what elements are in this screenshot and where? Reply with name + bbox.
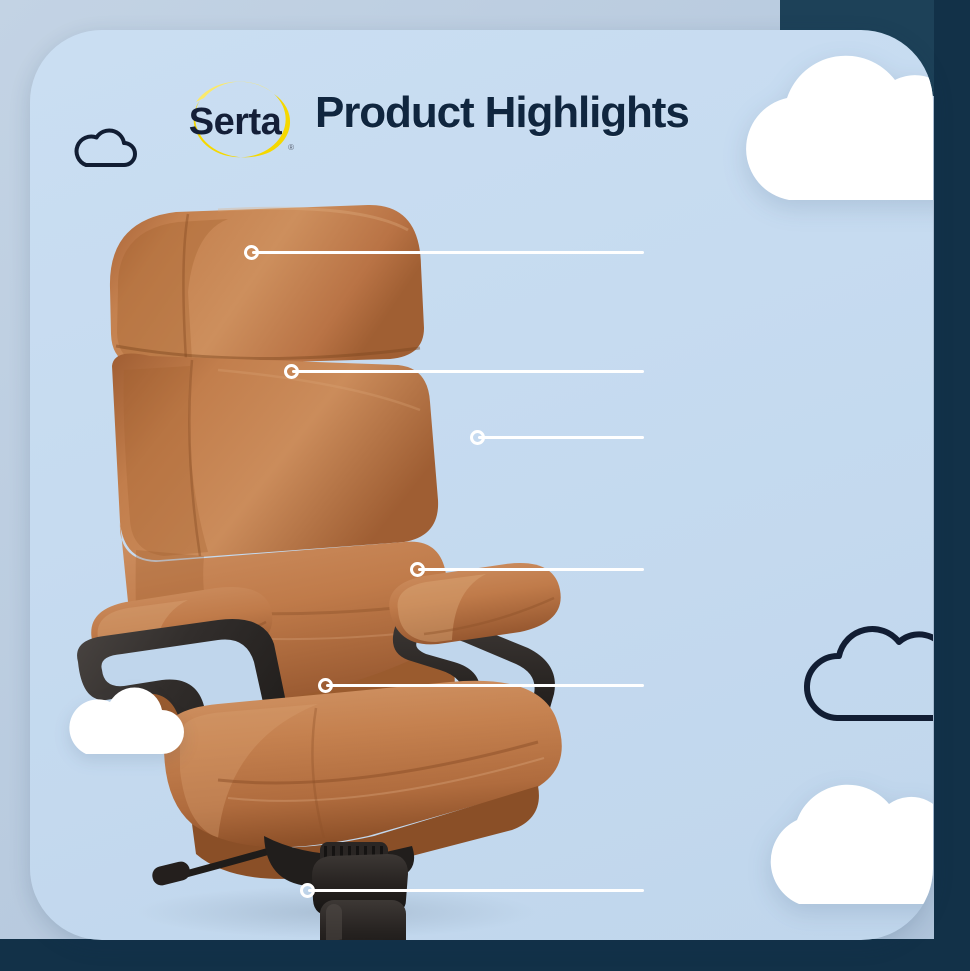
- callout-dot: [318, 678, 333, 693]
- callout-dot: [244, 245, 259, 260]
- callout-dot: [300, 883, 315, 898]
- callout-layer: Cushioned Headrest Curved Lumbar Support…: [30, 30, 933, 940]
- navy-band-right: [934, 0, 970, 971]
- callout-leader-line: [292, 370, 644, 373]
- callout-leader-line: [308, 889, 644, 892]
- callout-leader-line: [252, 251, 644, 254]
- callout-dot: [410, 562, 425, 577]
- callout-leader-line: [478, 436, 644, 439]
- callout-leader-line: [326, 684, 644, 687]
- highlights-card: Serta ® Product Highlights: [30, 30, 933, 940]
- navy-band-bottom: [0, 939, 970, 971]
- callout-leader-line: [418, 568, 644, 571]
- callout-dot: [284, 364, 299, 379]
- callout-dot: [470, 430, 485, 445]
